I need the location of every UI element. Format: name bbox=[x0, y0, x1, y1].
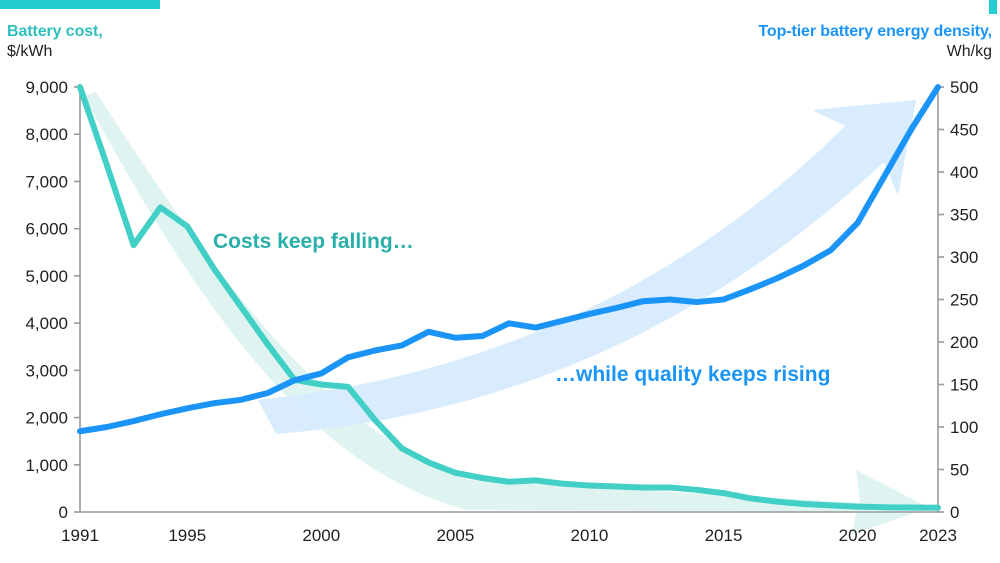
y-right-tick-label: 250 bbox=[950, 291, 978, 310]
y-right-tick-label: 300 bbox=[950, 248, 978, 267]
y-left-tick-label: 1,000 bbox=[25, 456, 68, 475]
x-tick-label: 1995 bbox=[168, 526, 206, 545]
x-tick-label: 2015 bbox=[705, 526, 743, 545]
y-right-tick-label: 150 bbox=[950, 376, 978, 395]
y-right-tick-label: 200 bbox=[950, 333, 978, 352]
x-tick-label: 1991 bbox=[61, 526, 99, 545]
x-tick-label: 2005 bbox=[436, 526, 474, 545]
y-left-tick-label: 5,000 bbox=[25, 267, 68, 286]
y-right-tick-label: 500 bbox=[950, 78, 978, 97]
falling-arrow-shape bbox=[84, 92, 930, 534]
y-left-tick-label: 3,000 bbox=[25, 361, 68, 380]
x-tick-label: 2010 bbox=[571, 526, 609, 545]
x-tick-label: 2020 bbox=[839, 526, 877, 545]
y-right-tick-label: 350 bbox=[950, 206, 978, 225]
y-left-tick-label: 2,000 bbox=[25, 409, 68, 428]
arrow-shapes-layer bbox=[84, 92, 930, 534]
y-left-tick-label: 0 bbox=[59, 503, 68, 522]
y-left-tick-label: 6,000 bbox=[25, 220, 68, 239]
y-right-tick-label: 450 bbox=[950, 121, 978, 140]
y-right-tick-label: 0 bbox=[950, 503, 959, 522]
y-right-tick-label: 400 bbox=[950, 163, 978, 182]
annotation-quality-rising: …while quality keeps rising bbox=[555, 363, 830, 386]
chart-canvas: 01,0002,0003,0004,0005,0006,0007,0008,00… bbox=[0, 0, 1000, 563]
y-left-tick-label: 4,000 bbox=[25, 314, 68, 333]
y-left-tick-label: 9,000 bbox=[25, 78, 68, 97]
y-left-tick-label: 8,000 bbox=[25, 125, 68, 144]
dual-axis-line-chart: 01,0002,0003,0004,0005,0006,0007,0008,00… bbox=[0, 0, 1000, 563]
axes-layer bbox=[74, 85, 944, 512]
y-left-tick-label: 7,000 bbox=[25, 172, 68, 191]
x-tick-label: 2000 bbox=[302, 526, 340, 545]
y-right-tick-label: 50 bbox=[950, 461, 969, 480]
x-tick-label: 2023 bbox=[919, 526, 957, 545]
y-right-tick-label: 100 bbox=[950, 418, 978, 437]
annotation-costs-falling: Costs keep falling… bbox=[213, 230, 414, 253]
